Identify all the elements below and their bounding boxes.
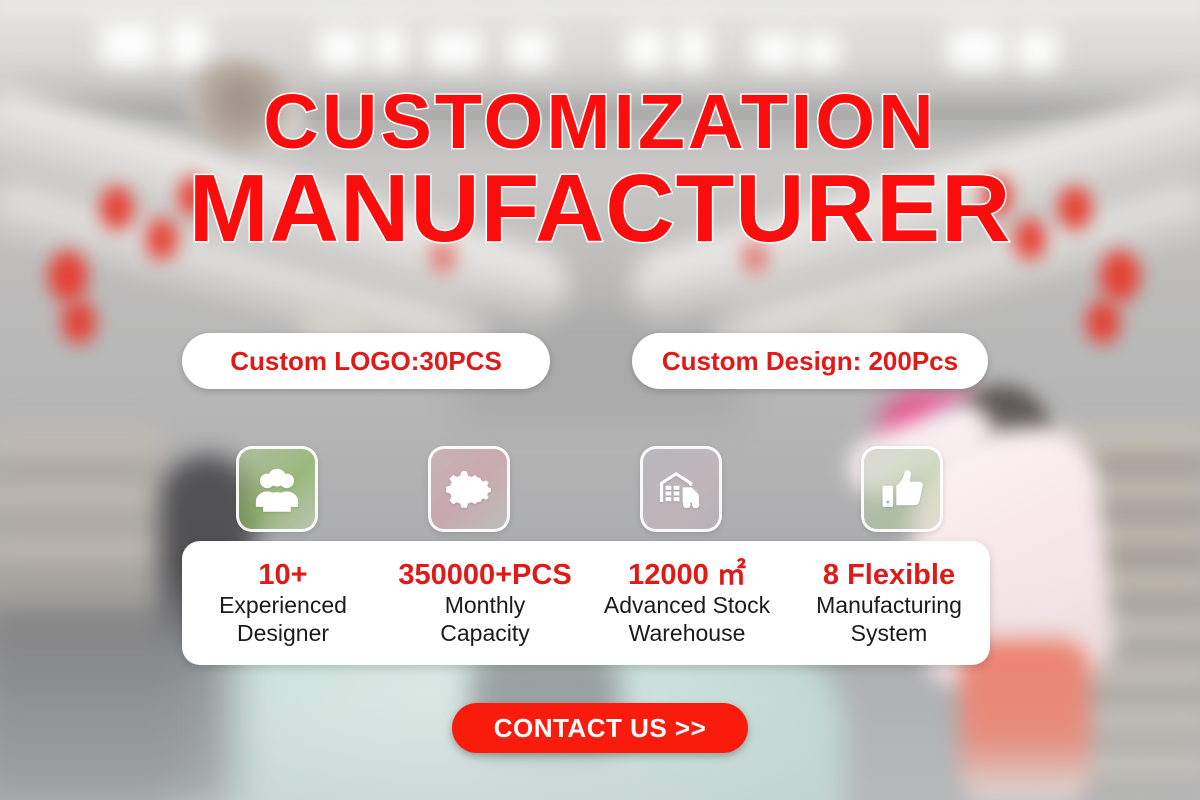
stat-label-line-1: Monthly — [388, 592, 582, 619]
stat-label-line-1: Advanced Stock — [590, 592, 784, 619]
badge-custom-design[interactable]: Custom Design: 200Pcs — [632, 333, 988, 389]
stat-experienced-designer: 10+ Experienced Designer — [182, 559, 384, 647]
stat-monthly-capacity: 350000+PCS Monthly Capacity — [384, 559, 586, 647]
promo-banner: CUSTOMIZATION MANUFACTURER Custom LOGO:3… — [0, 0, 1200, 800]
badge-row: Custom LOGO:30PCS Custom Design: 200Pcs — [0, 333, 1200, 389]
stat-label-line-2: Designer — [186, 620, 380, 647]
people-group-icon — [251, 463, 303, 515]
icon-tile-row — [0, 446, 1200, 534]
stat-value: 350000+PCS — [388, 559, 582, 591]
warehouse-truck-icon — [655, 463, 707, 515]
headline-block: CUSTOMIZATION MANUFACTURER — [0, 86, 1200, 255]
headline-line-2: MANUFACTURER — [0, 164, 1200, 254]
tile-monthly-capacity — [428, 446, 510, 532]
stat-value: 8 Flexible — [792, 559, 986, 591]
stat-stock-warehouse: 12000 ㎡ Advanced Stock Warehouse — [586, 559, 788, 647]
contact-us-button[interactable]: CONTACT US >> — [452, 703, 748, 753]
tile-stock-warehouse — [640, 446, 722, 532]
stat-label-line-1: Manufacturing — [792, 592, 986, 619]
tile-manufacturing-system — [861, 446, 943, 532]
gears-icon — [443, 463, 495, 515]
headline-line-1: CUSTOMIZATION — [0, 86, 1200, 158]
stat-value: 10+ — [186, 559, 380, 591]
stat-label-line-1: Experienced — [186, 592, 380, 619]
stat-manufacturing-system: 8 Flexible Manufacturing System — [788, 559, 990, 647]
thumbs-up-icon — [876, 463, 928, 515]
stat-label-line-2: Warehouse — [590, 620, 784, 647]
stat-label-line-2: System — [792, 620, 986, 647]
stat-value: 12000 ㎡ — [590, 559, 784, 591]
badge-custom-logo[interactable]: Custom LOGO:30PCS — [182, 333, 550, 389]
stat-label-line-2: Capacity — [388, 620, 582, 647]
stats-panel: 10+ Experienced Designer 350000+PCS Mont… — [182, 541, 990, 665]
tile-experienced-designer — [236, 446, 318, 532]
